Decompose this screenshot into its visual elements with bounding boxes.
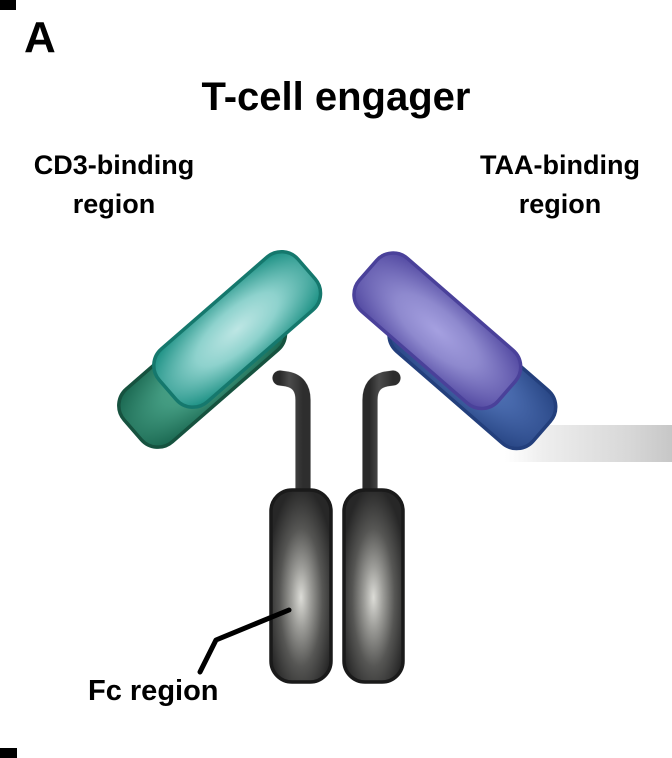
top-left-corner-mark bbox=[0, 0, 16, 10]
cd3-label-line1: CD3-binding bbox=[34, 150, 194, 180]
fc-domain-left bbox=[271, 490, 331, 682]
fc-domain-right bbox=[344, 490, 403, 682]
cd3-label-line2: region bbox=[73, 189, 156, 219]
fc-region-label: Fc region bbox=[88, 675, 219, 707]
panel-letter: A bbox=[24, 13, 56, 62]
figure-title: T-cell engager bbox=[202, 75, 471, 119]
diagram-canvas: A T-cell engager CD3-binding region TAA-… bbox=[0, 0, 672, 758]
figure-panel-a: A T-cell engager CD3-binding region TAA-… bbox=[0, 0, 672, 758]
taa-label-line1: TAA-binding bbox=[480, 150, 640, 180]
bottom-left-corner-mark bbox=[0, 748, 17, 758]
taa-label-line2: region bbox=[519, 189, 602, 219]
